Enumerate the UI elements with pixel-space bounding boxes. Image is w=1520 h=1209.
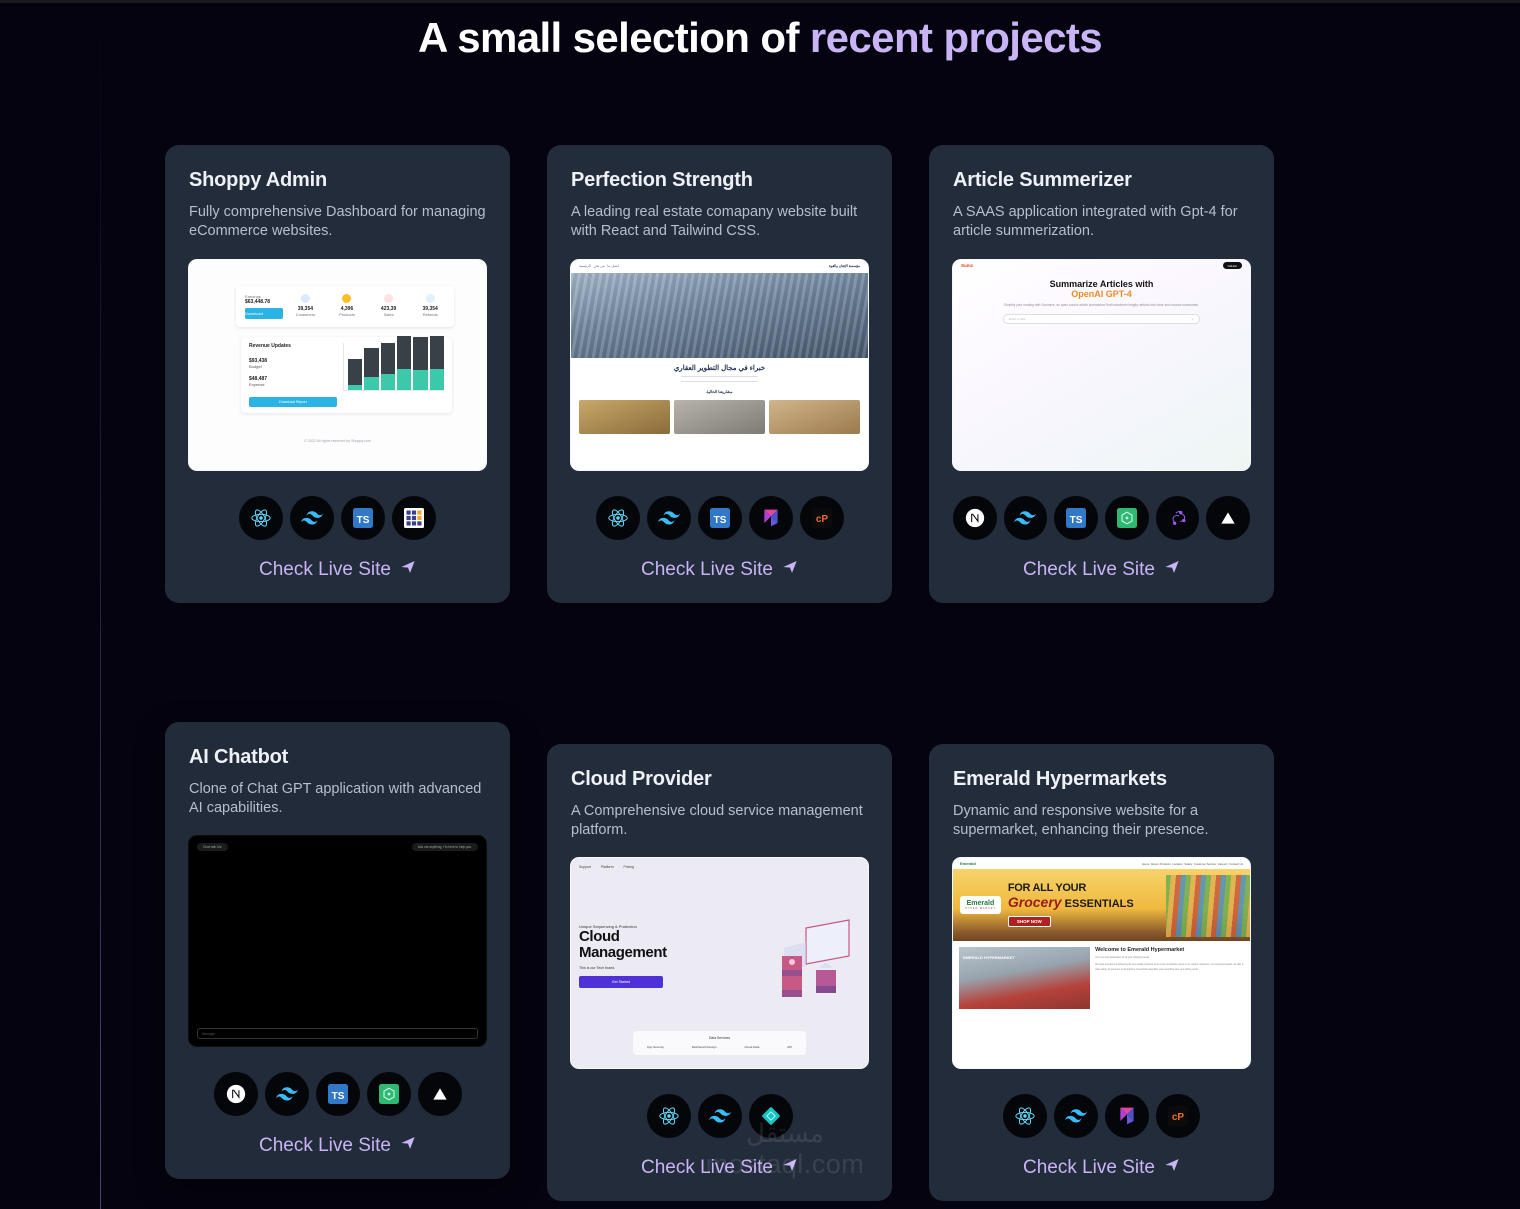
projects-row-2: AI Chatbot Clone of Chat GPT application…	[165, 744, 1275, 1202]
preview-nav-item: About	[1151, 862, 1158, 866]
check-live-site-label: Check Live Site	[641, 1157, 773, 1179]
preview-report-button: Download Report	[249, 397, 337, 407]
project-card-ai-chatbot[interactable]: AI Chatbot Clone of Chat GPT application…	[165, 722, 510, 1180]
preview-stat-label: Products	[339, 312, 355, 317]
project-title: Cloud Provider	[571, 768, 868, 791]
preview-expense-label: Expense	[249, 382, 337, 387]
preview-stat-label: Customers	[296, 312, 315, 317]
preview-footer-text: © 2022 All rights reserved by Shoppy.com	[201, 439, 474, 443]
project-preview-cloud: Support Platform Pricing Unique Sequenci…	[570, 857, 869, 1069]
check-live-site-link[interactable]: Check Live Site	[953, 559, 1250, 581]
tailwind-icon	[1004, 496, 1048, 540]
preview-section-title: خبراء في مجال التطوير العقاري	[571, 358, 868, 374]
preview-section-sub: ــــــــــــــــــــــــــــــــــــــــ…	[571, 374, 868, 385]
preview-nav-item: اتصل بنا	[607, 264, 618, 268]
send-arrow-icon	[1164, 559, 1180, 581]
preview-welcome-body: We pride ourselves in delivering the bes…	[1095, 963, 1244, 972]
preview-nav-item: Pricing	[624, 865, 634, 869]
typescript-icon: TS	[1054, 496, 1098, 540]
node-icon	[367, 1072, 411, 1116]
preview-shop-now-button: SHOP NOW	[1008, 916, 1051, 927]
project-card-shoppy-admin[interactable]: Shoppy Admin Fully comprehensive Dashboa…	[165, 145, 510, 603]
tailwind-icon	[265, 1072, 309, 1116]
preview-title-line1: Cloud	[579, 928, 620, 945]
tech-stack-row: TS	[189, 496, 486, 540]
projects-page: A small selection of recent projects Sho…	[0, 0, 1520, 1209]
preview-nav-item: Support	[579, 865, 591, 869]
preview-stat-strip: Earnings $63,448.78 Download 39,354Custo…	[236, 286, 454, 327]
project-description: Clone of Chat GPT application with advan…	[189, 780, 486, 819]
tailwind-icon	[1054, 1094, 1098, 1138]
send-arrow-icon	[1164, 1157, 1180, 1179]
tailwind-icon	[290, 496, 334, 540]
preview-banner-line1: FOR ALL YOUR	[1008, 882, 1134, 894]
preview-revenue-panel: Revenue Updates $93,438 Budget $48,487 E…	[241, 337, 452, 413]
redux-icon	[1156, 496, 1200, 540]
preview-chat-input: Message	[197, 1028, 478, 1039]
left-accent-rule	[100, 0, 101, 1209]
preview-banner-script: Grocery	[1008, 894, 1062, 910]
svg-text:cP: cP	[815, 514, 828, 525]
preview-nav-item: Contact Us	[1229, 862, 1243, 866]
typescript-icon: TS	[316, 1072, 360, 1116]
preview-bar-chart	[343, 343, 444, 391]
swiper-icon: cP	[1156, 1094, 1200, 1138]
preview-panel-item: Cloud Data	[744, 1045, 759, 1049]
preview-title-line1: Summarize Articles with	[953, 279, 1250, 289]
diamond-icon	[749, 1094, 793, 1138]
page-title-lead: A small selection of	[418, 14, 810, 61]
react-icon	[239, 496, 283, 540]
preview-panel-item: API	[787, 1045, 792, 1049]
preview-download-button: Download	[245, 308, 283, 319]
react-icon	[596, 496, 640, 540]
svg-text:TS: TS	[357, 515, 370, 526]
send-arrow-icon	[782, 559, 798, 581]
project-description: A Comprehensive cloud service management…	[571, 802, 868, 841]
preview-logo: Sumz	[961, 263, 973, 268]
preview-store-sign: EMERALD HYPERMARKET	[963, 955, 1015, 960]
preview-stat-label: Refunds	[423, 312, 438, 317]
typescript-icon: TS	[698, 496, 742, 540]
tech-stack-row: cP	[953, 1094, 1250, 1138]
project-preview-emerald: Emerald Home About Products Location Saf…	[952, 857, 1251, 1069]
preview-github-pill: GitHub	[1223, 262, 1242, 269]
preview-title-line2: Management	[579, 944, 667, 961]
check-live-site-label: Check Live Site	[259, 1135, 391, 1157]
framer-motion-icon	[749, 496, 793, 540]
project-card-cloud-provider[interactable]: Cloud Provider A Comprehensive cloud ser…	[547, 744, 892, 1202]
preview-nav-item: Customer Service	[1194, 862, 1216, 866]
preview-nav-item: Safety	[1184, 862, 1192, 866]
project-title: Shoppy Admin	[189, 169, 486, 192]
preview-title-line2: OpenAI GPT-4	[953, 289, 1250, 299]
tech-stack-row: TS cP	[571, 496, 868, 540]
preview-brand-name: Emerald	[965, 900, 996, 907]
check-live-site-link[interactable]: Check Live Site	[571, 559, 868, 581]
check-live-site-link[interactable]: Check Live Site	[953, 1157, 1250, 1179]
preview-welcome-title: Welcome to Emerald Hypermarket	[1095, 947, 1244, 953]
preview-panel-item: Dashboard Design	[692, 1045, 717, 1049]
preview-panel-title: Data Services	[633, 1036, 806, 1040]
project-preview-chatbot: Chat with Me Ask me anything, I'm here t…	[188, 835, 487, 1047]
project-title: Perfection Strength	[571, 169, 868, 192]
swiper-icon: cP	[800, 496, 844, 540]
nextjs-icon	[214, 1072, 258, 1116]
preview-submit-arrow-icon: ↵	[1191, 317, 1194, 321]
nextjs-icon	[953, 496, 997, 540]
projects-grid: Shoppy Admin Fully comprehensive Dashboa…	[165, 145, 1275, 1201]
react-icon	[1003, 1094, 1047, 1138]
project-card-emerald-hypermarkets[interactable]: Emerald Hypermarkets Dynamic and respons…	[929, 744, 1274, 1202]
vercel-icon	[418, 1072, 462, 1116]
preview-brand: مؤسسة الإتقان والقوة	[829, 264, 860, 268]
react-icon	[647, 1094, 691, 1138]
project-description: A SAAS application integrated with Gpt-4…	[953, 203, 1250, 242]
preview-chat-tag-left: Chat with Me	[197, 843, 228, 851]
svg-text:TS: TS	[713, 515, 726, 526]
preview-nav-item: Careers	[1218, 862, 1228, 866]
preview-logo: Emerald	[960, 861, 976, 866]
preview-brand-sub: HYPER MARKET	[965, 907, 996, 910]
project-description: Fully comprehensive Dashboard for managi…	[189, 203, 486, 242]
top-edge-bar	[0, 0, 1520, 3]
preview-url-placeholder: Enter a URL	[1009, 317, 1026, 321]
preview-isometric-illustration	[754, 908, 854, 1008]
preview-subtitle: Simplify your reading with Summize, an o…	[953, 299, 1250, 309]
preview-nav-item: من نحن	[594, 264, 605, 268]
project-preview-dashboard: Earnings $63,448.78 Download 39,354Custo…	[188, 259, 487, 471]
preview-nav-item: Platform	[601, 865, 614, 869]
projects-row-1: Shoppy Admin Fully comprehensive Dashboa…	[165, 145, 1275, 603]
typescript-icon: TS	[341, 496, 385, 540]
preview-nav-item: Location	[1172, 862, 1183, 866]
preview-earnings-value: $63,448.78	[245, 299, 283, 305]
send-arrow-icon	[400, 559, 416, 581]
preview-nav-links: اتصل بنا من نحن الرئيسية	[579, 264, 619, 268]
check-live-site-label: Check Live Site	[259, 559, 391, 581]
project-title: Emerald Hypermarkets	[953, 768, 1250, 791]
preview-stat-label: Sales	[384, 312, 394, 317]
check-live-site-link[interactable]: Check Live Site	[189, 559, 486, 581]
preview-chat-tag-right: Ask me anything, I'm here to help you.	[412, 843, 478, 851]
preview-get-started-button: Get Started	[579, 976, 663, 988]
svg-text:cP: cP	[1172, 1112, 1185, 1123]
preview-panel-title: Revenue Updates	[249, 343, 337, 349]
svg-text:TS: TS	[331, 1091, 344, 1102]
tech-stack-row	[571, 1094, 868, 1138]
check-live-site-label: Check Live Site	[1023, 1157, 1155, 1179]
check-live-site-label: Check Live Site	[1023, 559, 1155, 581]
page-title: A small selection of recent projects	[0, 14, 1520, 62]
preview-projects-title: مشاريعنا الحالية	[571, 384, 868, 394]
syncfusion-icon	[392, 496, 436, 540]
preview-nav-item: Products	[1160, 862, 1171, 866]
project-card-article-summerizer[interactable]: Article Summerizer A SAAS application in…	[929, 145, 1274, 603]
project-card-perfection-strength[interactable]: Perfection Strength A leading real estat…	[547, 145, 892, 603]
project-title: AI Chatbot	[189, 746, 486, 769]
check-live-site-link[interactable]: Check Live Site	[189, 1135, 486, 1157]
preview-nav-item: Home	[1142, 862, 1149, 866]
vercel-icon	[1206, 496, 1250, 540]
send-arrow-icon	[400, 1135, 416, 1157]
project-preview-realestate: اتصل بنا من نحن الرئيسية مؤسسة الإتقان و…	[570, 259, 869, 471]
project-description: A leading real estate comapany website b…	[571, 203, 868, 242]
preview-nav-item: الرئيسية	[579, 264, 591, 268]
project-title: Article Summerizer	[953, 169, 1250, 192]
svg-text:TS: TS	[1070, 515, 1083, 526]
project-description: Dynamic and responsive website for a sup…	[953, 802, 1250, 841]
preview-panel-item: App Security	[647, 1045, 664, 1049]
send-arrow-icon	[782, 1157, 798, 1179]
preview-welcome-sub: Your one-stop destination for all your s…	[1095, 956, 1244, 960]
check-live-site-label: Check Live Site	[641, 559, 773, 581]
tailwind-icon	[698, 1094, 742, 1138]
page-title-accent: recent projects	[810, 14, 1102, 61]
tech-stack-row: TS	[189, 1072, 486, 1116]
project-preview-summarizer: Sumz GitHub Summarize Articles with Open…	[952, 259, 1251, 471]
framer-motion-icon	[1105, 1094, 1149, 1138]
node-icon	[1105, 496, 1149, 540]
preview-earnings-label: Earnings	[245, 294, 261, 299]
preview-budget-label: Budget	[249, 364, 337, 369]
preview-banner-line2: ESSENTIALS	[1065, 898, 1134, 910]
tech-stack-row: TS	[953, 496, 1250, 540]
tailwind-icon	[647, 496, 691, 540]
check-live-site-link[interactable]: Check Live Site	[571, 1157, 868, 1179]
